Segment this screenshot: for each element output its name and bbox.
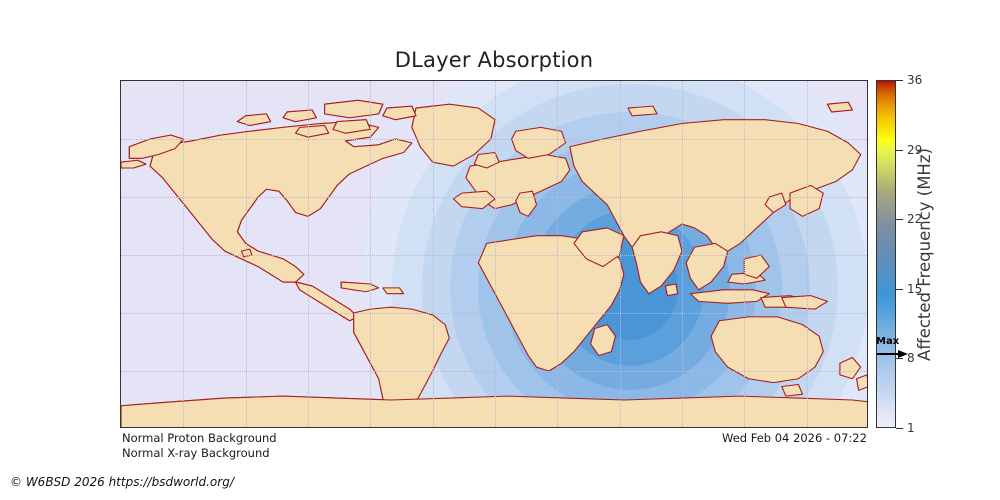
latitude-gridline xyxy=(121,139,867,140)
colorbar[interactable] xyxy=(876,80,896,428)
longitude-gridline xyxy=(807,81,808,427)
background-status: Normal Proton Background Normal X-ray Ba… xyxy=(122,431,277,461)
copyright-footer: © W6BSD 2026 https://bsdworld.org/ xyxy=(10,475,234,489)
page-title: DLayer Absorption xyxy=(120,48,868,72)
colorbar-tick-mark xyxy=(896,428,903,429)
latitude-gridline xyxy=(121,255,867,256)
latitude-gridline xyxy=(121,313,867,314)
colorbar-tick-mark xyxy=(896,219,903,220)
world-map-axes[interactable] xyxy=(120,80,868,428)
colorbar-tick-mark xyxy=(896,289,903,290)
longitude-gridline xyxy=(557,81,558,427)
longitude-gridline xyxy=(744,81,745,427)
colorbar-tick-mark xyxy=(896,150,903,151)
xray-background-text: Normal X-ray Background xyxy=(122,446,277,461)
colorbar-tick-mark xyxy=(896,80,903,81)
longitude-gridline xyxy=(620,81,621,427)
map-svg xyxy=(121,81,867,427)
colorbar-axis-label: Affected Frequency (MHz) xyxy=(912,80,936,428)
longitude-gridline xyxy=(308,81,309,427)
latitude-gridline xyxy=(121,371,867,372)
longitude-gridline xyxy=(246,81,247,427)
longitude-gridline xyxy=(370,81,371,427)
latitude-gridline xyxy=(121,197,867,198)
longitude-gridline xyxy=(495,81,496,427)
colorbar-gradient xyxy=(876,80,896,428)
timestamp: Wed Feb 04 2026 - 07:22 xyxy=(722,431,867,445)
colorbar-axis-label-text: Affected Frequency (MHz) xyxy=(915,148,934,361)
longitude-gridline xyxy=(183,81,184,427)
dlayer-absorption-figure: DLayer Absorption xyxy=(0,0,1000,500)
map-canvas xyxy=(121,81,867,427)
longitude-gridline xyxy=(433,81,434,427)
proton-background-text: Normal Proton Background xyxy=(122,431,277,446)
colorbar-tick-mark xyxy=(896,358,903,359)
longitude-gridline xyxy=(682,81,683,427)
